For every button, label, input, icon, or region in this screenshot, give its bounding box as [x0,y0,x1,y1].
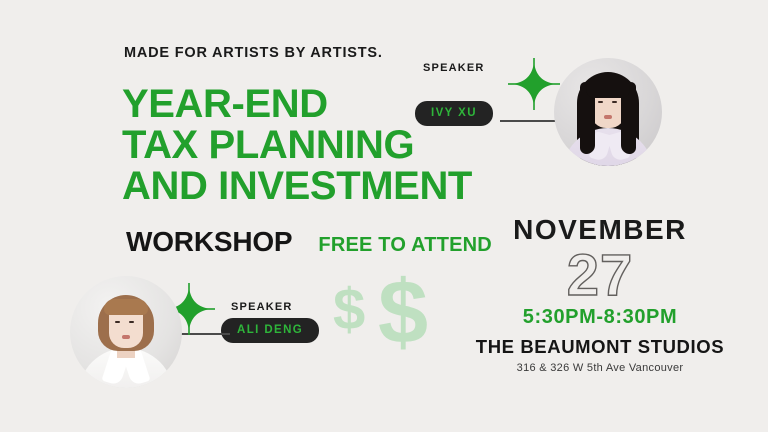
dollar-sign-small-icon: $ [333,281,365,339]
workshop-label: WORKSHOP [126,226,292,258]
event-month: NOVEMBER [440,216,760,244]
avatar-lips [604,115,612,119]
speaker-2-name-pill: ALI DENG [221,318,319,343]
speaker-2-avatar [70,276,182,388]
speaker-1-avatar [554,58,662,166]
avatar-fringe [104,299,148,315]
speaker-1-name-pill: IVY XU [415,101,493,126]
avatar-fringe [586,76,630,98]
avatar-lips [122,335,130,339]
speaker-2-role-label: SPEAKER [231,301,293,313]
poster-tagline: MADE FOR ARTISTS BY ARTISTS. [124,45,383,61]
event-address: 316 & 326 W 5th Ave Vancouver [440,363,760,374]
sparkle-icon [508,58,560,110]
speaker-1-role-label: SPEAKER [423,62,485,74]
workshop-subtitle-row: WORKSHOP FREE TO ATTEND [126,226,492,258]
headline-line-2: TAX PLANNING [122,125,542,166]
event-venue: THE BEAUMONT STUDIOS [440,338,760,357]
event-time: 5:30PM-8:30PM [440,307,760,327]
event-poster: MADE FOR ARTISTS BY ARTISTS. YEAR-END TA… [0,0,768,432]
dollar-sign-large-icon: $ [378,268,428,358]
event-day: 27 [440,246,760,305]
event-details-block: NOVEMBER 27 5:30PM-8:30PM THE BEAUMONT S… [440,216,760,374]
speaker-1-connector-line [500,120,562,122]
headline-line-3: AND INVESTMENT [122,166,542,207]
